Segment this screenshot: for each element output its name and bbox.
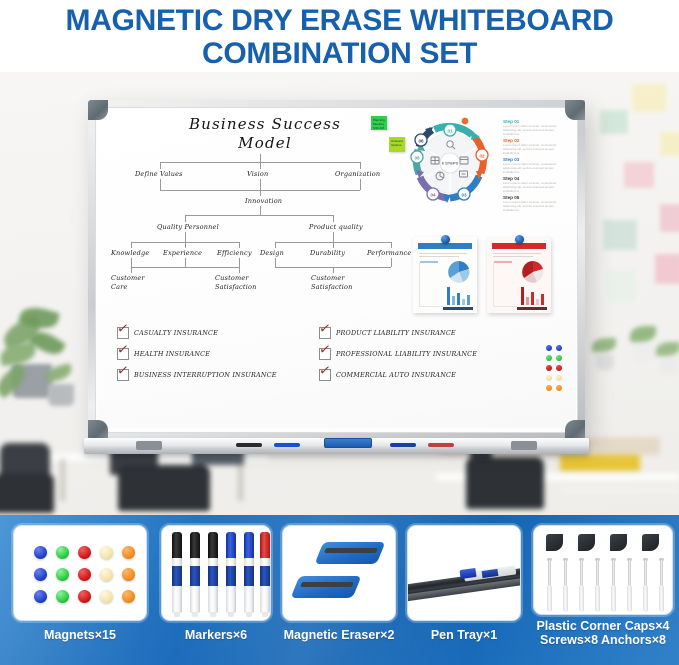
- org-node-cs-right-line-1: Customer: [311, 274, 352, 283]
- page-title-line-2: COMBINATION SET: [202, 37, 477, 70]
- org-node-define-values: Define Values: [135, 170, 183, 178]
- check-mark-icon: ✓: [318, 363, 332, 378]
- check-mark-icon: ✓: [116, 342, 130, 357]
- connector-line: [239, 267, 240, 273]
- whiteboard: Business Success Model Define Values Vis…: [88, 100, 585, 440]
- report-bar: [447, 287, 450, 305]
- marker-brand-band: [226, 566, 236, 586]
- plant-pot: [596, 354, 614, 370]
- report-pie-chart: [519, 259, 547, 285]
- marker-brand-band: [208, 566, 218, 586]
- wall-sticky-note: [600, 110, 628, 134]
- step-body: Lorem ipsum dolor sit amet, consectetur …: [503, 143, 567, 155]
- connector-line: [360, 162, 361, 169]
- connector-line: [275, 242, 276, 248]
- chair: [118, 465, 210, 511]
- marker-tip: [262, 612, 268, 617]
- infographic-steps-list: Step 01 Lorem ipsum dolor sit amet, cons…: [503, 119, 569, 212]
- screw[interactable]: [612, 560, 615, 586]
- svg-text:06: 06: [418, 138, 424, 143]
- hardware-label-line-1: Plastic Corner Caps×4: [536, 619, 669, 633]
- plastic-corner-cap[interactable]: [610, 534, 627, 551]
- connector-line: [131, 258, 132, 267]
- report-bar: [536, 299, 539, 305]
- wall-sticky-note: [603, 220, 637, 250]
- report-bar: [467, 295, 470, 305]
- check-mark-icon: ✓: [116, 363, 130, 378]
- marker-tip: [174, 612, 180, 617]
- hardware-card: [533, 525, 673, 615]
- infographic-step: Step 04 Lorem ipsum dolor sit amet, cons…: [503, 176, 569, 193]
- marker-brand-band: [244, 566, 254, 586]
- svg-text:04: 04: [430, 192, 436, 197]
- cabinet-yellow-panel: [560, 455, 640, 471]
- magnet-green[interactable]: [56, 568, 69, 581]
- wall-anchor[interactable]: [595, 586, 600, 612]
- report-bar: [541, 294, 544, 305]
- board-magnet[interactable]: [556, 365, 562, 371]
- card-dash-accent: [632, 525, 673, 532]
- check-mark-icon: ✓: [116, 321, 130, 336]
- magnet-red[interactable]: [78, 546, 91, 559]
- connector-line: [260, 162, 261, 169]
- accessory-label-eraser: Magnetic Eraser×2: [284, 628, 395, 642]
- svg-text:01: 01: [447, 128, 453, 133]
- svg-text:6 STEPS: 6 STEPS: [442, 161, 459, 166]
- connector-line: [185, 215, 333, 216]
- accessory-cell-markers: Markers×6: [157, 525, 275, 660]
- magnet-green[interactable]: [56, 590, 69, 603]
- magnet-orange[interactable]: [122, 546, 135, 559]
- org-node-vision: Vision: [247, 170, 268, 178]
- wall-anchor[interactable]: [659, 586, 664, 612]
- org-node-product-quality: Product quality: [309, 223, 363, 231]
- report-footer-bar: [517, 307, 547, 310]
- wall-sticky-note: [655, 254, 679, 284]
- marker-brand-band: [172, 566, 182, 586]
- checklist-label: HEALTH INSURANCE: [134, 350, 210, 358]
- org-node-efficiency: Efficiency: [217, 249, 252, 257]
- desk: [560, 487, 679, 493]
- checkbox[interactable]: ✓: [117, 369, 129, 381]
- connector-line: [131, 267, 132, 273]
- magnet-blue[interactable]: [34, 590, 47, 603]
- checklist-label: COMMERCIAL AUTO INSURANCE: [336, 371, 456, 379]
- wall-anchor[interactable]: [563, 586, 568, 612]
- connector-line: [391, 258, 392, 267]
- accessory-label-hardware: Plastic Corner Caps×4 Screws×8 Anchors×8: [536, 619, 669, 647]
- connector-line: [160, 179, 161, 190]
- wall-sticky-note: [624, 162, 654, 188]
- board-magnet[interactable]: [556, 385, 562, 391]
- plant-pot: [634, 344, 654, 362]
- tray-marker[interactable]: [274, 443, 300, 447]
- checkbox[interactable]: ✓: [319, 369, 331, 381]
- connector-line: [333, 215, 334, 222]
- accessories-bar: Magnets×15: [0, 515, 679, 665]
- org-chart-title-line-1: Business Success: [145, 115, 385, 134]
- org-node-experience: Experience: [163, 249, 202, 257]
- org-node-customer-care: Customer Care: [111, 274, 145, 292]
- org-node-customer-care-line-2: Care: [111, 283, 145, 292]
- marker-tip: [228, 612, 234, 617]
- whiteboard-pen-tray: [84, 438, 589, 454]
- magnet-blue[interactable]: [34, 568, 47, 581]
- screw[interactable]: [628, 560, 631, 586]
- connector-line: [391, 242, 392, 248]
- report-bar: [457, 293, 460, 305]
- org-node-innovation: Innovation: [245, 197, 282, 205]
- wall-anchor[interactable]: [547, 586, 552, 612]
- report-bar-chart: [445, 285, 473, 305]
- corner-cap-top-right: [565, 100, 585, 120]
- step-body: Lorem ipsum dolor sit amet, consectetur …: [503, 181, 567, 193]
- svg-text:03: 03: [461, 192, 467, 197]
- checklist-label: PROFESSIONAL LIABILITY INSURANCE: [336, 350, 477, 358]
- corner-cap-bottom-right: [565, 420, 585, 440]
- connector-line: [239, 242, 240, 248]
- checklist-label: BUSINESS INTERRUPTION INSURANCE: [134, 371, 277, 379]
- wall-sticky-note: [660, 132, 679, 156]
- pen-tray-card: [407, 525, 521, 621]
- red-report-sheet: [487, 237, 551, 313]
- marker-tip: [192, 612, 198, 617]
- report-bar: [531, 292, 534, 305]
- accessory-cell-eraser: Magnetic Eraser×2: [278, 525, 400, 660]
- marker-cap: [208, 532, 218, 559]
- infographic-step: Step 03 Lorem ipsum dolor sit amet, cons…: [503, 157, 569, 174]
- connector-line: [185, 258, 186, 267]
- pen-tray-end-cap: [136, 441, 162, 450]
- report-bar: [521, 287, 524, 305]
- connector-line: [160, 162, 161, 169]
- checkbox[interactable]: ✓: [319, 348, 331, 360]
- report-bar: [452, 296, 455, 305]
- connector-line: [260, 190, 261, 196]
- board-sticky-note-1: Planning Meeting 9:00 AM: [371, 116, 387, 130]
- chair: [0, 473, 54, 513]
- magnet-cream[interactable]: [100, 590, 113, 603]
- marker-cap: [190, 532, 200, 559]
- marker-cap: [244, 532, 254, 559]
- accessory-cell-pen-tray: Pen Tray×1: [403, 525, 525, 660]
- marker-tip: [210, 612, 216, 617]
- org-node-quality-personnel: Quality Personnel: [157, 223, 219, 231]
- marker-brand-band: [190, 566, 200, 586]
- magnet-orange[interactable]: [122, 590, 135, 603]
- checkbox[interactable]: ✓: [117, 327, 129, 339]
- accessory-label-pen-tray: Pen Tray×1: [431, 628, 497, 642]
- org-node-cs-left-line-1: Customer: [215, 274, 256, 283]
- connector-line: [260, 154, 261, 162]
- magnets-card: [13, 525, 147, 621]
- screw[interactable]: [644, 560, 647, 586]
- report-bar: [462, 299, 465, 305]
- report-bar: [526, 297, 529, 305]
- report-text-line: [493, 256, 533, 257]
- connector-line: [185, 215, 186, 222]
- checklist-item: ✓ COMMERCIAL AUTO INSURANCE: [319, 369, 456, 381]
- checklist-item: ✓ CASUALTY INSURANCE: [117, 327, 218, 339]
- wall-sticky-note: [606, 270, 636, 302]
- connector-line: [185, 242, 186, 248]
- card-dash-accent: [480, 525, 521, 532]
- marker-cap: [172, 532, 182, 559]
- report-magnet[interactable]: [441, 235, 450, 244]
- card-dash-accent: [230, 525, 271, 532]
- accessory-label-magnets: Magnets×15: [44, 628, 116, 642]
- tray-magnetic-eraser[interactable]: [324, 438, 372, 448]
- blue-report-sheet: [413, 237, 477, 313]
- org-node-customer-care-line-1: Customer: [111, 274, 145, 283]
- plastic-corner-cap[interactable]: [578, 534, 595, 551]
- svg-text:05: 05: [414, 155, 420, 160]
- eraser-felt-strip: [324, 548, 378, 553]
- markers-card: [161, 525, 271, 621]
- eraser-body: [291, 576, 362, 598]
- wall-anchor[interactable]: [579, 586, 584, 612]
- wall-anchor[interactable]: [611, 586, 616, 612]
- infographic-step: Step 05 Lorem ipsum dolor sit amet, cons…: [503, 195, 569, 212]
- connector-line: [333, 267, 334, 273]
- report-footer-bar: [443, 307, 473, 310]
- svg-text:02: 02: [479, 153, 485, 158]
- report-pie-chart: [445, 259, 473, 285]
- eraser-felt-strip: [300, 582, 354, 587]
- infographic-step: Step 01 Lorem ipsum dolor sit amet, cons…: [503, 119, 569, 136]
- org-node-knowledge: Knowledge: [111, 249, 149, 257]
- org-node-cs-left-line-2: Satisfaction: [215, 283, 256, 292]
- connector-line: [131, 267, 239, 268]
- screw[interactable]: [660, 560, 663, 586]
- check-mark-icon: ✓: [318, 342, 332, 357]
- magnet-blue[interactable]: [34, 546, 47, 559]
- org-node-design: Design: [260, 249, 284, 257]
- board-magnet[interactable]: [546, 345, 552, 351]
- report-text-line: [419, 253, 467, 254]
- screw[interactable]: [580, 560, 583, 586]
- whiteboard-writing-surface: Business Success Model Define Values Vis…: [97, 109, 576, 428]
- connector-line: [260, 179, 261, 190]
- org-chart-title-line-2: Model: [145, 134, 385, 153]
- board-magnet[interactable]: [546, 375, 552, 381]
- connector-line: [333, 242, 334, 248]
- magnet-red[interactable]: [78, 568, 91, 581]
- connector-line: [260, 206, 261, 215]
- org-node-organization: Organization: [335, 170, 380, 178]
- connector-line: [360, 179, 361, 190]
- wall-sticky-note: [632, 84, 666, 112]
- chair: [466, 457, 544, 509]
- checklist-item: ✓ HEALTH INSURANCE: [117, 348, 210, 360]
- product-title-header: MAGNETIC DRY ERASE WHITEBOARD COMBINATIO…: [0, 0, 679, 72]
- check-mark-icon: ✓: [318, 321, 332, 336]
- step-body: Lorem ipsum dolor sit amet, consectetur …: [503, 200, 567, 212]
- accessory-label-markers: Markers×6: [185, 628, 247, 642]
- magnet-orange[interactable]: [122, 568, 135, 581]
- report-text-line: [419, 256, 459, 257]
- checklist-label: CASUALTY INSURANCE: [134, 329, 218, 337]
- checklist-item: ✓ PROFESSIONAL LIABILITY INSURANCE: [319, 348, 477, 360]
- eraser-card: [282, 525, 396, 621]
- screw[interactable]: [548, 560, 551, 586]
- checklist-label: PRODUCT LIABILITY INSURANCE: [336, 329, 456, 337]
- pen-tray-end-cap: [511, 441, 537, 450]
- magnet-cream[interactable]: [100, 546, 113, 559]
- board-magnet[interactable]: [556, 355, 562, 361]
- report-text-line: [494, 261, 512, 263]
- org-node-cs-right-line-2: Satisfaction: [311, 283, 352, 292]
- report-grid: [493, 263, 517, 307]
- six-steps-circular-infographic: 01 02 03 04 05 06 6 STEPS: [409, 115, 497, 207]
- report-bar-chart: [519, 285, 547, 305]
- checkbox[interactable]: ✓: [117, 348, 129, 360]
- marker-cap: [226, 532, 236, 559]
- report-text-line: [420, 261, 438, 263]
- plastic-corner-cap[interactable]: [642, 534, 659, 551]
- org-node-durability: Durability: [310, 249, 345, 257]
- connector-line: [239, 258, 240, 267]
- tray-marker[interactable]: [428, 443, 454, 447]
- org-node-performance: Performance: [367, 249, 411, 257]
- checkbox[interactable]: ✓: [319, 327, 331, 339]
- checklist-item: ✓ PRODUCT LIABILITY INSURANCE: [319, 327, 456, 339]
- card-dash-accent: [355, 525, 396, 532]
- desk-leg: [60, 459, 65, 501]
- report-text-line: [493, 253, 541, 254]
- tray-marker[interactable]: [390, 443, 416, 447]
- plastic-corner-cap[interactable]: [546, 534, 563, 551]
- board-magnet[interactable]: [546, 355, 552, 361]
- wall-anchor[interactable]: [627, 586, 632, 612]
- corner-cap-top-left: [88, 100, 108, 120]
- hardware-label-line-2: Screws×8 Anchors×8: [536, 633, 669, 647]
- plant-pot: [660, 358, 678, 374]
- step-body: Lorem ipsum dolor sit amet, consectetur …: [503, 124, 567, 136]
- report-grid: [419, 263, 443, 307]
- step-body: Lorem ipsum dolor sit amet, consectetur …: [503, 162, 567, 174]
- magnet-green[interactable]: [56, 546, 69, 559]
- connector-line: [131, 242, 132, 248]
- board-sticky-note-2: Onboard Options: [389, 137, 405, 152]
- tray-marker[interactable]: [236, 443, 262, 447]
- connector-line: [185, 232, 186, 242]
- marker-tip: [246, 612, 252, 617]
- board-magnet[interactable]: [546, 365, 552, 371]
- eraser-body: [315, 542, 386, 564]
- screw[interactable]: [564, 560, 567, 586]
- board-magnet[interactable]: [556, 375, 562, 381]
- org-node-customer-satisfaction-left: Customer Satisfaction: [215, 274, 256, 292]
- office-scene-photo: Business Success Model Define Values Vis…: [0, 72, 679, 515]
- magnet-cream[interactable]: [100, 568, 113, 581]
- connector-line: [333, 232, 334, 242]
- desk-leg: [238, 459, 243, 501]
- card-dash-accent: [106, 525, 147, 532]
- board-magnet[interactable]: [556, 345, 562, 351]
- connector-line: [275, 258, 276, 267]
- magnet-red[interactable]: [78, 590, 91, 603]
- marker-brand-band: [260, 566, 270, 586]
- wall-anchor[interactable]: [643, 586, 648, 612]
- screw[interactable]: [596, 560, 599, 586]
- page-title-line-1: MAGNETIC DRY ERASE WHITEBOARD: [66, 4, 614, 37]
- accessory-cell-hardware: Plastic Corner Caps×4 Screws×8 Anchors×8: [528, 525, 678, 660]
- checklist-item: ✓ BUSINESS INTERRUPTION INSURANCE: [117, 369, 277, 381]
- accessory-cell-magnets: Magnets×15: [6, 525, 154, 660]
- wall-sticky-note: [660, 204, 679, 232]
- org-chart-title: Business Success Model: [145, 115, 385, 153]
- board-magnet[interactable]: [546, 385, 552, 391]
- org-node-customer-satisfaction-right: Customer Satisfaction: [311, 274, 352, 292]
- marker-cap: [260, 532, 270, 559]
- corner-cap-bottom-left: [88, 420, 108, 440]
- report-magnet[interactable]: [515, 235, 524, 244]
- infographic-step: Step 02 Lorem ipsum dolor sit amet, cons…: [503, 138, 569, 155]
